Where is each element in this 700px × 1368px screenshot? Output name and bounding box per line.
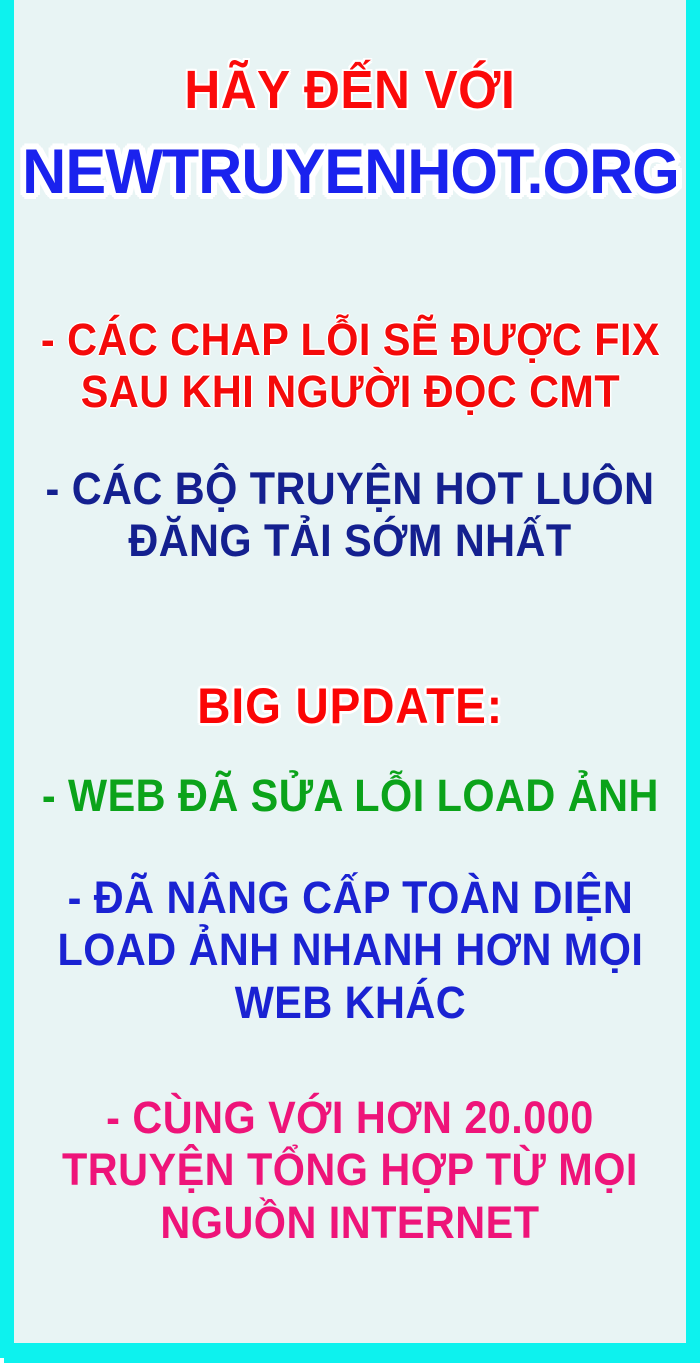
notice-hot-line-2: ĐĂNG TẢI SỚM NHẤT xyxy=(45,515,654,567)
update-full-upgrade-line-1: - ĐÃ NÂNG CẤP TOÀN DIỆN xyxy=(57,872,643,925)
update-image-load-fix: - WEB ĐÃ SỬA LỖI LOAD ẢNH xyxy=(42,770,659,822)
update-story-count: - CÙNG VỚI HƠN 20.000 TRUYỆN TỔNG HỢP TỪ… xyxy=(62,1092,638,1250)
banner-panel: HÃY ĐẾN VỚI NEWTRUYENHOT.ORG - CÁC CHAP … xyxy=(14,0,686,1343)
bottom-left-white-notch xyxy=(0,1358,4,1368)
update-story-count-line-3: NGUỒN INTERNET xyxy=(62,1197,638,1250)
site-url[interactable]: NEWTRUYENHOT.ORG xyxy=(22,140,679,206)
notice-fix-line-1: - CÁC CHAP LỖI SẼ ĐƯỢC FIX xyxy=(40,314,659,366)
bottom-white-strip xyxy=(0,1363,700,1368)
update-story-count-line-1: - CÙNG VỚI HƠN 20.000 xyxy=(62,1092,638,1145)
headline-invite: HÃY ĐẾN VỚI xyxy=(185,62,516,118)
update-image-load-fix-line-1: - WEB ĐÃ SỬA LỖI LOAD ẢNH xyxy=(42,770,659,822)
update-full-upgrade-line-3: WEB KHÁC xyxy=(57,977,643,1030)
promo-banner: HÃY ĐẾN VỚI NEWTRUYENHOT.ORG - CÁC CHAP … xyxy=(0,0,700,1368)
notice-fix: - CÁC CHAP LỖI SẼ ĐƯỢC FIX SAU KHI NGƯỜI… xyxy=(40,314,659,418)
notice-fix-line-2: SAU KHI NGƯỜI ĐỌC CMT xyxy=(40,366,659,418)
big-update-heading: BIG UPDATE: xyxy=(197,680,503,732)
notice-hot-line-1: - CÁC BỘ TRUYỆN HOT LUÔN xyxy=(45,463,654,515)
update-full-upgrade: - ĐÃ NÂNG CẤP TOÀN DIỆN LOAD ẢNH NHANH H… xyxy=(57,872,643,1030)
notice-hot: - CÁC BỘ TRUYỆN HOT LUÔN ĐĂNG TẢI SỚM NH… xyxy=(45,463,654,567)
update-story-count-line-2: TRUYỆN TỔNG HỢP TỪ MỌI xyxy=(62,1144,638,1197)
update-full-upgrade-line-2: LOAD ẢNH NHANH HƠN MỌI xyxy=(57,924,643,977)
